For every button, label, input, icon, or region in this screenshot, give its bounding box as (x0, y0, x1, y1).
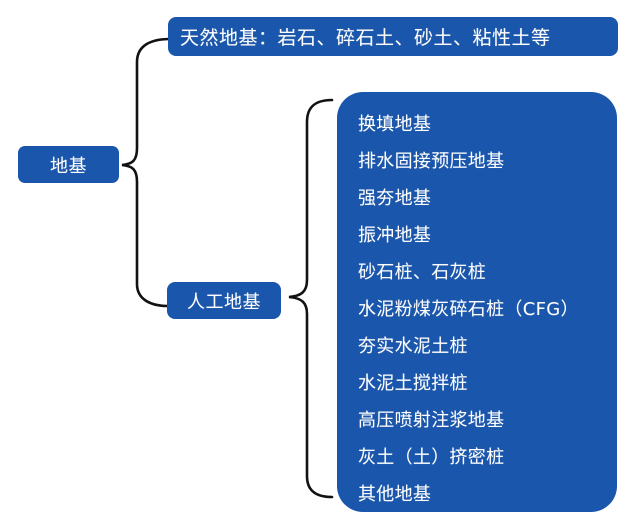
node-artificial-foundation[interactable]: 人工地基 (167, 282, 281, 319)
root-node-label: 地基 (50, 152, 87, 178)
artificial-node-label: 人工地基 (187, 288, 261, 314)
list-item: 强夯地基 (358, 180, 617, 217)
list-item: 水泥土搅拌桩 (358, 365, 617, 402)
list-item: 夯实水泥土桩 (358, 328, 617, 365)
list-item: 灰土（土）挤密桩 (358, 439, 617, 476)
brace-root-to-branches (122, 39, 170, 306)
list-item: 其他地基 (358, 476, 617, 513)
list-item: 水泥粉煤灰碎石桩（CFG） (358, 291, 617, 328)
node-root-foundation[interactable]: 地基 (18, 146, 119, 183)
brace-artificial-to-methods (289, 100, 332, 497)
list-item: 排水固接预压地基 (358, 143, 617, 180)
natural-node-label: 天然地基：岩石、碎石土、砂土、粘性土等 (180, 23, 551, 50)
node-natural-foundation[interactable]: 天然地基：岩石、碎石土、砂土、粘性土等 (168, 17, 618, 56)
panel-artificial-foundation-methods: 换填地基 排水固接预压地基 强夯地基 振冲地基 砂石桩、石灰桩 水泥粉煤灰碎石桩… (337, 92, 617, 512)
list-item: 振冲地基 (358, 217, 617, 254)
diagram-canvas: 地基 天然地基：岩石、碎石土、砂土、粘性土等 人工地基 换填地基 排水固接预压地… (0, 0, 640, 525)
list-item: 高压喷射注浆地基 (358, 402, 617, 439)
list-item: 换填地基 (358, 106, 617, 143)
list-item: 砂石桩、石灰桩 (358, 254, 617, 291)
